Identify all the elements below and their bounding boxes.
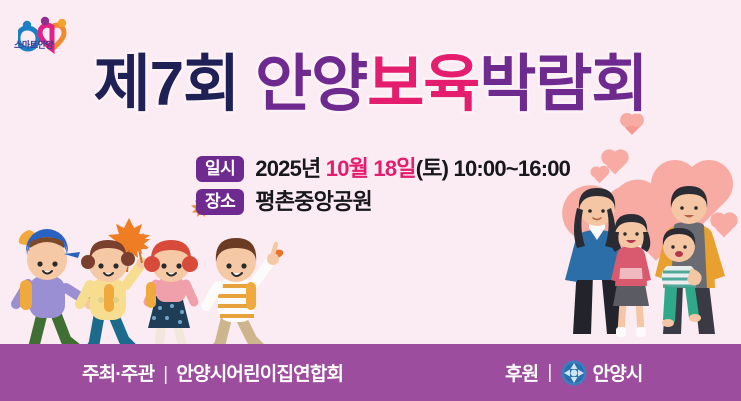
event-info-block: 일시 2025년 10월 18일(토) 10:00~16:00 장소 평촌중앙공…	[196, 156, 570, 222]
footer-sponsor-divider: |	[547, 362, 551, 384]
title-segment-childcare: 보육	[367, 50, 479, 119]
footer-bar: 주최·주관|안양시어린이집연합회 후원 | 안양시	[0, 344, 741, 401]
children-illustration	[4, 228, 294, 363]
poster-title: 제7회안양보육박람회	[0, 54, 741, 116]
place-badge: 장소	[196, 189, 244, 215]
child-figure-2	[78, 230, 150, 360]
title-segment-order: 제7회	[94, 50, 240, 119]
footer-host-divider: |	[163, 364, 167, 385]
event-date-row: 일시 2025년 10월 18일(토) 10:00~16:00	[196, 156, 570, 182]
date-highlight: 10월 18일	[326, 156, 416, 181]
event-place-value: 평촌중앙공원	[255, 191, 372, 213]
footer-host: 주최·주관|안양시어린이집연합회	[82, 359, 343, 386]
anyang-city-emblem-icon	[561, 360, 587, 386]
footer-host-label: 주최·주관	[82, 364, 154, 385]
title-segment-expo: 박람회	[479, 50, 647, 119]
heart-decoration	[592, 168, 608, 184]
event-date-value: 2025년 10월 18일(토) 10:00~16:00	[255, 158, 570, 180]
title-segment-anyang: 안양	[255, 50, 367, 119]
footer-sponsor: 후원 | 안양시	[505, 359, 643, 386]
child-figure-4	[202, 238, 279, 360]
event-place-row: 장소 평촌중앙공원	[196, 189, 570, 215]
smart-anyang-logo-caption: 스마트안양	[14, 38, 53, 51]
date-badge: 일시	[196, 156, 244, 182]
footer-host-value: 안양시어린이집연합회	[176, 364, 343, 385]
date-prefix: 2025년	[255, 156, 326, 181]
date-suffix: (토) 10:00~16:00	[416, 156, 570, 181]
event-poster: 스마트안양 제7회안양보육박람회 일시 2025년 10월 18일(토) 10:…	[0, 0, 741, 401]
footer-sponsor-label: 후원	[505, 359, 538, 386]
family-illustration	[541, 184, 741, 344]
footer-sponsor-value: 안양시	[593, 359, 643, 386]
